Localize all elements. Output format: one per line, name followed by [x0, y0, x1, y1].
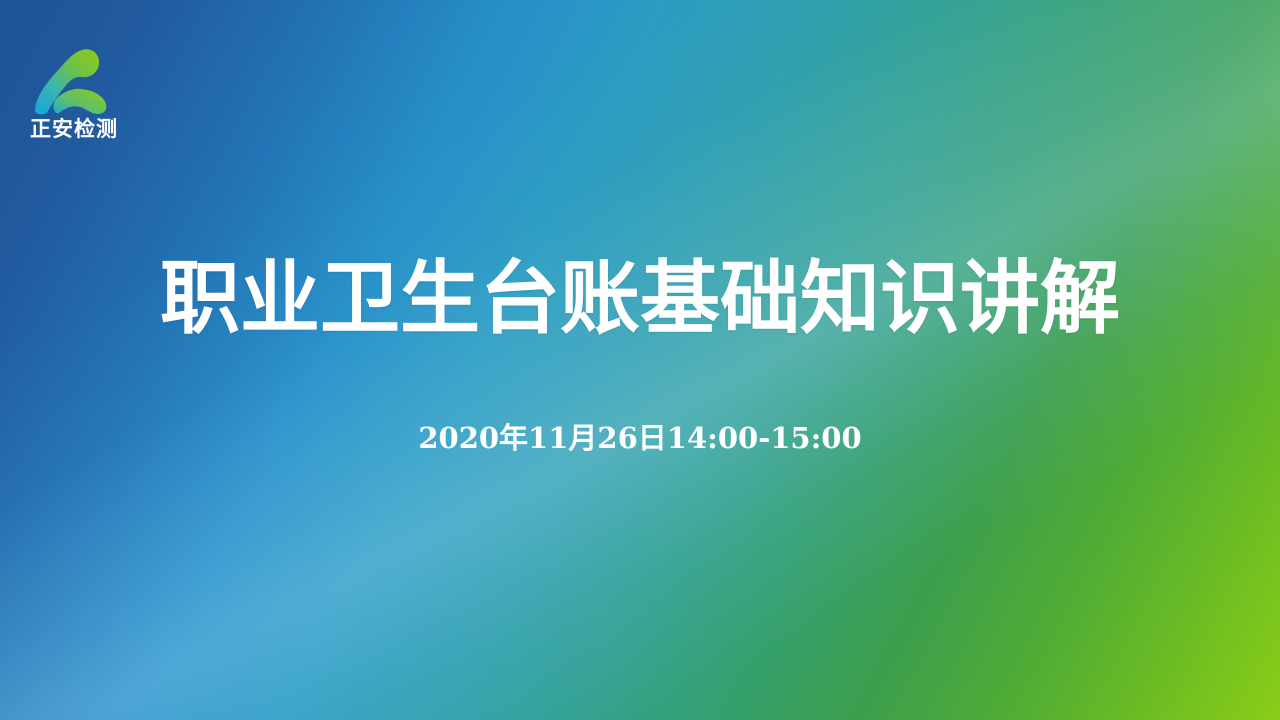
company-logo-text: 正安检测 — [12, 115, 136, 143]
page-title: 职业卫生台账基础知识讲解 — [0, 248, 1280, 348]
presentation-title-slide: 正安检测 职业卫生台账基础知识讲解 2020年11月26日14:00-15:00 — [0, 0, 1280, 720]
page-subtitle-datetime: 2020年11月26日14:00-15:00 — [0, 418, 1280, 458]
background-light-streak-secondary — [0, 0, 1280, 720]
background-light-streak — [0, 0, 1280, 720]
company-logo: 正安检测 — [12, 45, 152, 150]
company-logo-icon — [26, 45, 112, 115]
